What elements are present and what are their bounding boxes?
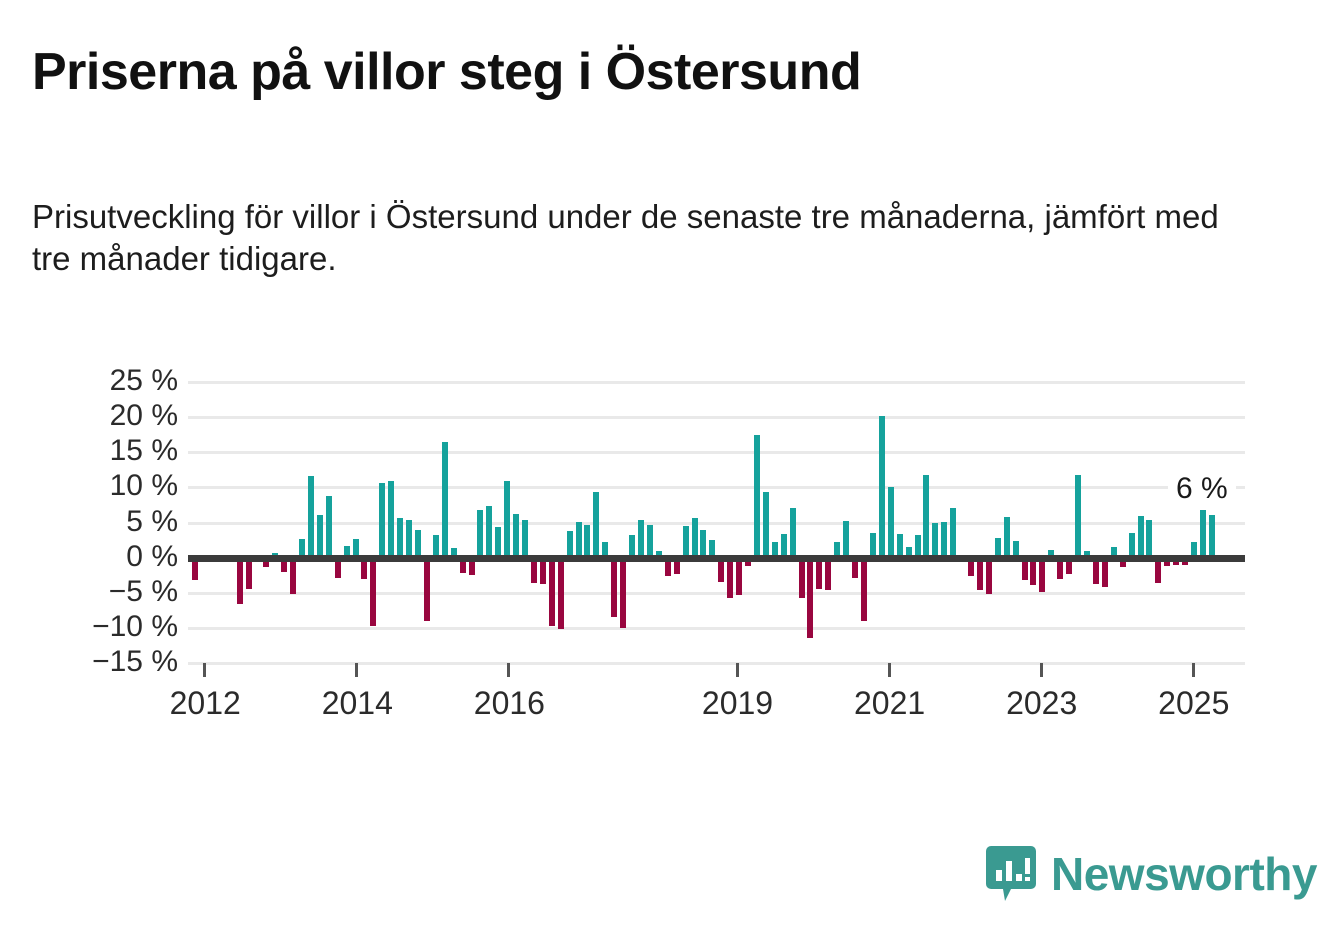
bar — [442, 442, 448, 557]
bar — [504, 481, 510, 558]
bar — [941, 522, 947, 558]
bar — [986, 558, 992, 595]
x-axis-tick-label: 2025 — [1158, 685, 1229, 722]
bar — [1093, 558, 1099, 585]
bar — [397, 518, 403, 557]
bar — [950, 508, 956, 557]
bar-chart-bubble-icon — [985, 845, 1037, 903]
x-axis-tick — [1040, 663, 1043, 677]
x-axis-tick-label: 2023 — [1006, 685, 1077, 722]
bar — [388, 481, 394, 558]
bar — [576, 522, 582, 558]
bar — [290, 558, 296, 595]
logo-text: Newsworthy — [1051, 851, 1317, 897]
bar — [692, 518, 698, 557]
y-axis-tick-label: −10 % — [92, 612, 178, 642]
bar — [1039, 558, 1045, 592]
bar — [754, 435, 760, 557]
last-value-annotation: 6 % — [1168, 470, 1236, 508]
x-axis-tick-label: 2012 — [170, 685, 241, 722]
bar — [326, 496, 332, 558]
bar — [549, 558, 555, 626]
bar — [424, 558, 430, 621]
bar — [1102, 558, 1108, 588]
y-axis-tick-label: 5 % — [126, 507, 178, 537]
bar — [861, 558, 867, 621]
bar — [807, 558, 813, 639]
bar — [843, 521, 849, 558]
bar — [620, 558, 626, 628]
bar — [923, 475, 929, 558]
bar — [237, 558, 243, 604]
bar — [370, 558, 376, 627]
x-axis-tick — [888, 663, 891, 677]
x-axis-tick-label: 2021 — [854, 685, 925, 722]
bar — [647, 525, 653, 558]
bar — [638, 520, 644, 557]
plot-area — [188, 382, 1245, 663]
bar-chart: 25 %20 %15 %10 %5 %0 %−5 %−10 %−15 % 201… — [0, 0, 1322, 760]
bar — [888, 487, 894, 558]
bar — [799, 558, 805, 598]
bar — [593, 492, 599, 557]
x-axis-tick-label: 2016 — [474, 685, 545, 722]
y-axis-tick-label: 0 % — [126, 542, 178, 572]
bar — [1030, 558, 1036, 585]
bar — [1200, 510, 1206, 558]
bar — [486, 506, 492, 558]
bar — [513, 514, 519, 558]
y-axis-tick-label: −5 % — [109, 577, 178, 607]
bar — [317, 515, 323, 557]
bar — [406, 520, 412, 558]
newsworthy-logo: Newsworthy — [985, 845, 1317, 903]
bar — [932, 523, 938, 558]
bar — [522, 520, 528, 558]
bar — [763, 492, 769, 557]
zero-axis-line — [188, 555, 1245, 562]
bar — [477, 510, 483, 558]
bar — [1004, 517, 1010, 558]
x-axis: 2012201420162019202120232025 — [188, 663, 1245, 743]
x-axis-tick — [507, 663, 510, 677]
x-axis-tick-label: 2019 — [702, 685, 773, 722]
bar — [495, 527, 501, 557]
bar — [683, 526, 689, 558]
bar — [567, 531, 573, 558]
bar — [790, 508, 796, 557]
bar — [879, 416, 885, 557]
x-axis-tick — [736, 663, 739, 677]
bar — [825, 558, 831, 590]
x-axis-tick — [1192, 663, 1195, 677]
bar — [246, 558, 252, 590]
x-axis-tick — [355, 663, 358, 677]
y-axis-tick-label: 10 % — [110, 471, 178, 501]
bar — [415, 530, 421, 558]
bar — [1138, 516, 1144, 557]
bar — [1075, 475, 1081, 558]
bar — [540, 558, 546, 585]
x-axis-tick — [203, 663, 206, 677]
bar — [558, 558, 564, 629]
bar-series — [188, 382, 1245, 663]
x-axis-tick-label: 2014 — [322, 685, 393, 722]
bar — [700, 530, 706, 558]
y-axis-tick-label: −15 % — [92, 647, 178, 677]
y-axis-tick-label: 15 % — [110, 436, 178, 466]
y-axis-labels: 25 %20 %15 %10 %5 %0 %−5 %−10 %−15 % — [60, 382, 178, 663]
y-axis-tick-label: 25 % — [110, 366, 178, 396]
bar — [977, 558, 983, 590]
bar — [1209, 515, 1215, 557]
bar — [584, 525, 590, 558]
bar — [611, 558, 617, 618]
bar — [727, 558, 733, 599]
y-axis-tick-label: 20 % — [110, 401, 178, 431]
bar — [308, 476, 314, 557]
bar — [1146, 520, 1152, 558]
bar — [379, 483, 385, 557]
bar — [816, 558, 822, 590]
bar — [736, 558, 742, 595]
